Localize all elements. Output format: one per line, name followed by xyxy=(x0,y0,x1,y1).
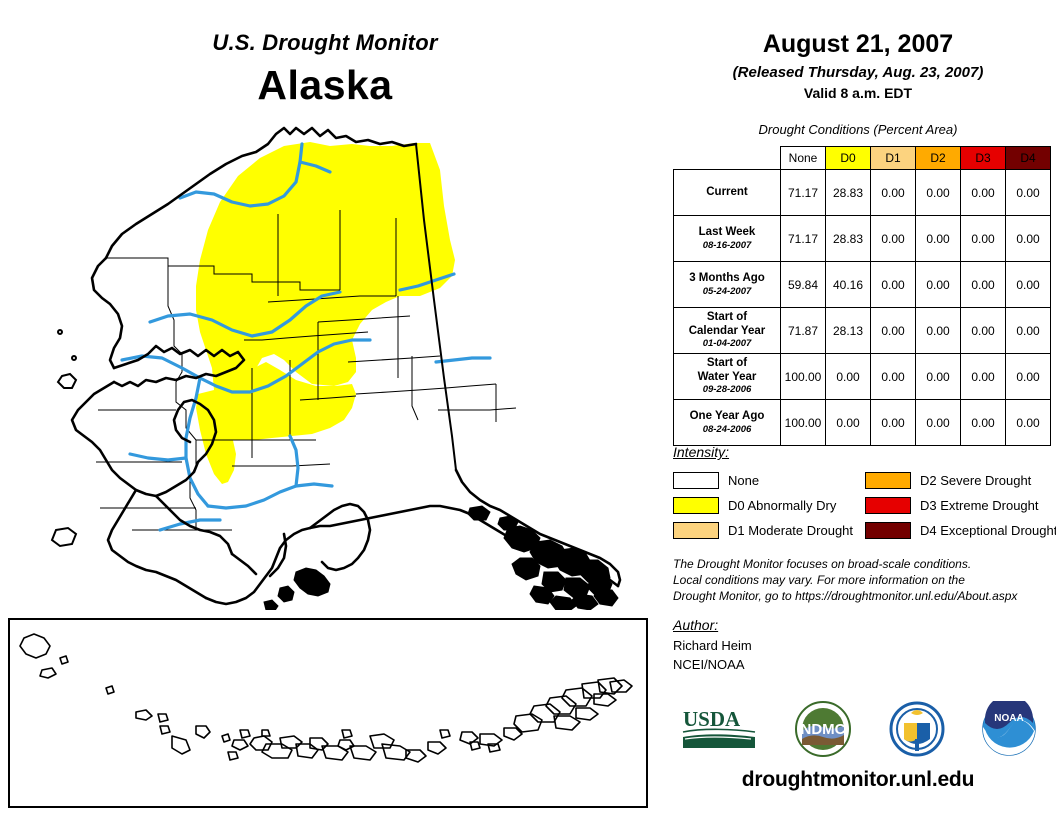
cell-none: 71.87 xyxy=(781,308,826,354)
cell-d3: 0.00 xyxy=(961,308,1006,354)
cell-d4: 0.00 xyxy=(1006,170,1051,216)
cell-d4: 0.00 xyxy=(1006,216,1051,262)
cell-d2: 0.00 xyxy=(916,170,961,216)
table-row: Start ofCalendar Year01-04-200771.8728.1… xyxy=(674,308,1051,354)
legend-label: None xyxy=(728,473,759,488)
legend-label: D4 Exceptional Drought xyxy=(920,523,1056,538)
cell-d2: 0.00 xyxy=(916,400,961,446)
offshore-islands xyxy=(52,330,76,546)
table-row: Start ofWater Year09-28-2006100.000.000.… xyxy=(674,354,1051,400)
cell-d3: 0.00 xyxy=(961,262,1006,308)
cell-d4: 0.00 xyxy=(1006,308,1051,354)
legend-label: D2 Severe Drought xyxy=(920,473,1031,488)
legend-label: D1 Moderate Drought xyxy=(728,523,853,538)
cell-d3: 0.00 xyxy=(961,170,1006,216)
table-col-header-d1: D1 xyxy=(871,147,916,170)
table-row: Last Week08-16-200771.1728.830.000.000.0… xyxy=(674,216,1051,262)
row-label: 3 Months Ago05-24-2007 xyxy=(674,262,781,308)
cell-d1: 0.00 xyxy=(871,262,916,308)
ndmc-logo[interactable]: NDMC xyxy=(792,701,854,757)
cell-d1: 0.00 xyxy=(871,216,916,262)
table-col-header-d4: D4 xyxy=(1006,147,1051,170)
table-caption: Drought Conditions (Percent Area) xyxy=(660,122,1056,137)
cell-d0: 0.00 xyxy=(826,354,871,400)
row-date: 08-24-2006 xyxy=(677,424,777,435)
partner-logos: USDA NDMC NOAA xyxy=(664,697,1054,761)
table-row: 3 Months Ago05-24-200759.8440.160.000.00… xyxy=(674,262,1051,308)
usda-logo[interactable]: USDA xyxy=(681,706,757,752)
table-col-header-d3: D3 xyxy=(961,147,1006,170)
report-date: August 21, 2007 xyxy=(660,30,1056,59)
legend-swatch xyxy=(865,472,911,489)
cell-d1: 0.00 xyxy=(871,308,916,354)
legend-item: D2 Severe Drought xyxy=(865,468,1056,493)
map-svg xyxy=(0,110,660,610)
cell-none: 59.84 xyxy=(781,262,826,308)
row-label: One Year Ago08-24-2006 xyxy=(674,400,781,446)
cell-none: 71.17 xyxy=(781,216,826,262)
legend-item: None xyxy=(673,468,853,493)
row-date: 08-16-2007 xyxy=(677,240,777,251)
cell-d2: 0.00 xyxy=(916,216,961,262)
table-col-header-d2: D2 xyxy=(916,147,961,170)
table-row: Current71.1728.830.000.000.000.00 xyxy=(674,170,1051,216)
release-date: (Released Thursday, Aug. 23, 2007) xyxy=(660,64,1056,81)
cell-d1: 0.00 xyxy=(871,354,916,400)
legend-label: D3 Extreme Drought xyxy=(920,498,1039,513)
table-col-header-d0: D0 xyxy=(826,147,871,170)
row-date: 05-24-2007 xyxy=(677,286,777,297)
table-col-header-none: None xyxy=(781,147,826,170)
cell-d1: 0.00 xyxy=(871,170,916,216)
table-body: Current71.1728.830.000.000.000.00Last We… xyxy=(674,170,1051,446)
author-name: Richard Heim xyxy=(673,638,752,653)
cell-d2: 0.00 xyxy=(916,308,961,354)
aleutian-chain xyxy=(20,634,632,762)
legend-item: D4 Exceptional Drought xyxy=(865,518,1056,543)
legend-label: D0 Abnormally Dry xyxy=(728,498,836,513)
svg-text:NDMC: NDMC xyxy=(800,721,845,738)
legend-item: D1 Moderate Drought xyxy=(673,518,853,543)
row-label: Current xyxy=(674,170,781,216)
noaa-logo[interactable]: NOAA xyxy=(981,701,1037,757)
cell-d4: 0.00 xyxy=(1006,354,1051,400)
table-row: One Year Ago08-24-2006100.000.000.000.00… xyxy=(674,400,1051,446)
drought-conditions-table: NoneD0D1D2D3D4 Current71.1728.830.000.00… xyxy=(673,146,1051,446)
program-title: U.S. Drought Monitor xyxy=(0,30,650,56)
row-label: Start ofCalendar Year01-04-2007 xyxy=(674,308,781,354)
inset-svg xyxy=(10,620,646,806)
cell-d3: 0.00 xyxy=(961,400,1006,446)
legend-column-left: NoneD0 Abnormally DryD1 Moderate Drought xyxy=(673,468,853,543)
cell-d0: 28.83 xyxy=(826,216,871,262)
table-header-row: NoneD0D1D2D3D4 xyxy=(674,147,1051,170)
legend-swatch xyxy=(865,522,911,539)
cell-d3: 0.00 xyxy=(961,354,1006,400)
website-url[interactable]: droughtmonitor.unl.edu xyxy=(660,768,1056,792)
row-date: 01-04-2007 xyxy=(677,338,777,349)
cell-d1: 0.00 xyxy=(871,400,916,446)
aleutian-islands-inset[interactable] xyxy=(8,618,648,808)
cell-none: 100.00 xyxy=(781,400,826,446)
d0-drought-region xyxy=(196,142,455,484)
valid-time: Valid 8 a.m. EDT xyxy=(660,85,1056,101)
author-organization: NCEI/NOAA xyxy=(673,657,745,672)
disclaimer-line-2: Local conditions may vary. For more info… xyxy=(673,573,1053,589)
row-label: Last Week08-16-2007 xyxy=(674,216,781,262)
row-date: 09-28-2006 xyxy=(677,384,777,395)
cell-d0: 40.16 xyxy=(826,262,871,308)
legend-heading: Intensity: xyxy=(673,444,729,460)
disclaimer-line-1: The Drought Monitor focuses on broad-sca… xyxy=(673,557,1053,573)
alaska-drought-map[interactable] xyxy=(0,110,660,610)
cell-d2: 0.00 xyxy=(916,262,961,308)
legend-item: D3 Extreme Drought xyxy=(865,493,1056,518)
cell-d4: 0.00 xyxy=(1006,400,1051,446)
table-corner-cell xyxy=(674,147,781,170)
row-label: Start ofWater Year09-28-2006 xyxy=(674,354,781,400)
legend-swatch xyxy=(865,497,911,514)
cell-d3: 0.00 xyxy=(961,216,1006,262)
cell-d2: 0.00 xyxy=(916,354,961,400)
cell-d0: 28.83 xyxy=(826,170,871,216)
us-department-of-commerce-seal[interactable] xyxy=(888,701,946,757)
cell-d0: 28.13 xyxy=(826,308,871,354)
cell-d0: 0.00 xyxy=(826,400,871,446)
cell-d4: 0.00 xyxy=(1006,262,1051,308)
legend-swatch xyxy=(673,497,719,514)
region-title: Alaska xyxy=(0,62,650,109)
cell-none: 71.17 xyxy=(781,170,826,216)
legend-swatch xyxy=(673,522,719,539)
legend-swatch xyxy=(673,472,719,489)
svg-text:USDA: USDA xyxy=(683,707,741,731)
author-heading: Author: xyxy=(673,617,718,633)
cell-none: 100.00 xyxy=(781,354,826,400)
svg-text:NOAA: NOAA xyxy=(994,713,1023,724)
disclaimer-text: The Drought Monitor focuses on broad-sca… xyxy=(673,557,1053,605)
legend-item: D0 Abnormally Dry xyxy=(673,493,853,518)
disclaimer-line-3: Drought Monitor, go to https://droughtmo… xyxy=(673,589,1053,605)
legend-column-right: D2 Severe DroughtD3 Extreme DroughtD4 Ex… xyxy=(865,468,1056,543)
